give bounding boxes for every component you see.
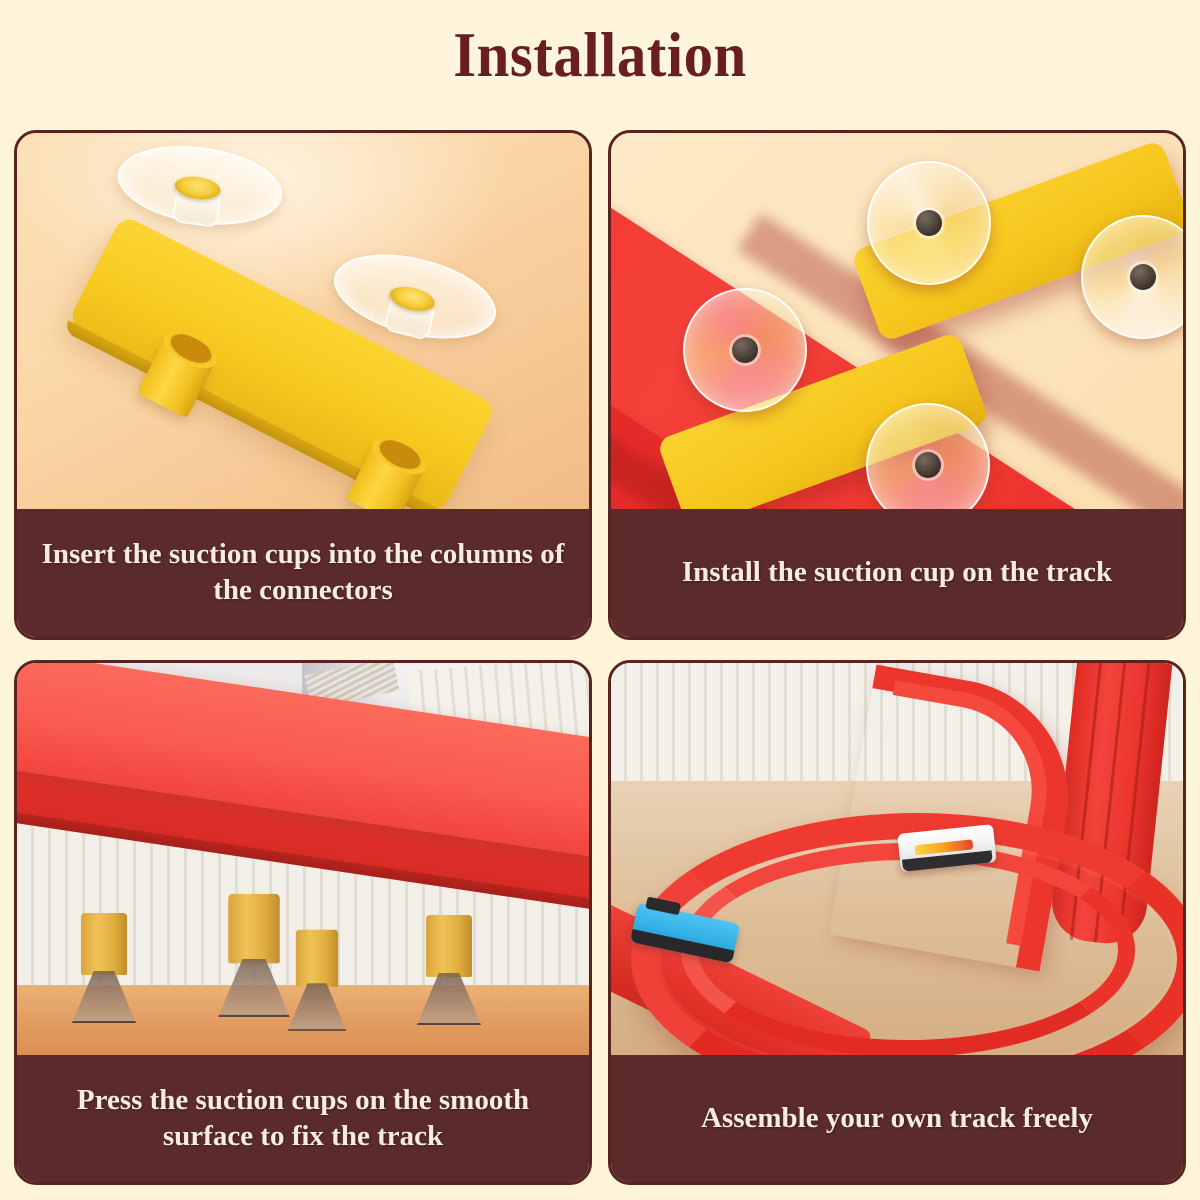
step-4-photo [611,663,1183,1055]
step-card-2: Install the suction cup on the track [608,130,1186,640]
step-2-caption: Install the suction cup on the track [611,509,1183,637]
connector-column-icon [296,930,338,987]
step-3-photo [17,663,589,1055]
step-1-photo [17,133,589,510]
page-title: Installation [48,18,1152,92]
suction-cup-icon [683,288,807,412]
suction-foot [417,915,481,1033]
suction-foot [218,894,290,1026]
step-1-caption: Insert the suction cups into the columns… [17,509,589,637]
suction-cup-icon [112,136,283,234]
connector-plate-icon [67,214,497,510]
suction-foot [72,913,136,1031]
steps-grid: Insert the suction cups into the columns… [14,130,1186,1185]
step-card-1: Insert the suction cups into the columns… [14,130,592,640]
scene-cups-on-track [611,133,1183,510]
scene-connector-plate [17,133,589,510]
step-card-3: Press the suction cups on the smooth sur… [14,660,592,1185]
suction-foot [288,930,347,1039]
connector-column-icon [426,915,472,977]
step-2-photo [611,133,1183,510]
scene-track-on-suction-feet [17,663,589,1055]
step-3-caption: Press the suction cups on the smooth sur… [17,1055,589,1182]
scene-assembled-loop-track [611,663,1183,1055]
step-4-caption: Assemble your own track freely [611,1055,1183,1182]
suction-cup-icon [417,973,481,1025]
suction-cup-icon [72,971,136,1023]
suction-cup-icon [867,161,991,285]
red-track-loop-inner [681,843,1135,1055]
suction-cup-icon [288,983,347,1031]
connector-column-icon [81,913,127,975]
connector-column-icon [228,894,280,963]
suction-cup-icon [218,959,290,1017]
step-card-4: Assemble your own track freely [608,660,1186,1185]
installation-infographic: Installation [0,0,1200,1200]
